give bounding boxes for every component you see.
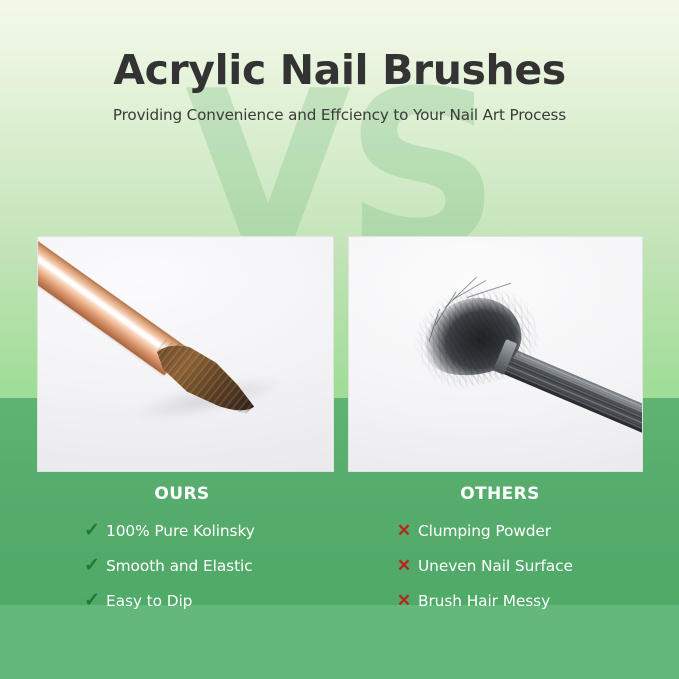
feature-label: Brush Hair Messy (418, 592, 550, 610)
check-icon: ✓ (78, 556, 106, 575)
photo-others-scene (349, 237, 642, 471)
product-photo-ours (37, 236, 334, 472)
product-photo-others (348, 236, 643, 472)
list-item: ✕ Uneven Nail Surface (350, 550, 650, 581)
column-heading-ours: OURS (32, 484, 332, 504)
feature-label: Clumping Powder (418, 522, 551, 540)
feature-label: Smooth and Elastic (106, 557, 253, 575)
feature-label: Uneven Nail Surface (418, 557, 573, 575)
list-item: ✕ Clumping Powder (350, 515, 650, 546)
list-item: ✓ Smooth and Elastic (32, 550, 332, 581)
page-title: Acrylic Nail Brushes (0, 48, 679, 93)
feature-list-ours: ✓ 100% Pure Kolinsky ✓ Smooth and Elasti… (32, 515, 332, 616)
list-item: ✕ Brush Hair Messy (350, 585, 650, 616)
feature-label: Easy to Dip (106, 592, 192, 610)
list-item: ✓ Easy to Dip (32, 585, 332, 616)
check-icon: ✓ (78, 521, 106, 540)
photo-ours-scene (38, 237, 333, 471)
cross-icon: ✕ (390, 522, 418, 539)
list-item: ✓ 100% Pure Kolinsky (32, 515, 332, 546)
cross-icon: ✕ (390, 592, 418, 609)
column-heading-others: OTHERS (350, 484, 650, 504)
page-subtitle: Providing Convenience and Effciency to Y… (0, 106, 679, 124)
poster-header: Acrylic Nail Brushes Providing Convenien… (0, 48, 679, 124)
feature-label: 100% Pure Kolinsky (106, 522, 255, 540)
comparison-column-ours: OURS ✓ 100% Pure Kolinsky ✓ Smooth and E… (32, 484, 332, 620)
comparison-column-others: OTHERS ✕ Clumping Powder ✕ Uneven Nail S… (350, 484, 650, 620)
product-comparison-poster: VS Acrylic Nail Brushes Providing Conven… (0, 0, 679, 679)
feature-list-others: ✕ Clumping Powder ✕ Uneven Nail Surface … (350, 515, 650, 616)
cross-icon: ✕ (390, 557, 418, 574)
check-icon: ✓ (78, 591, 106, 610)
